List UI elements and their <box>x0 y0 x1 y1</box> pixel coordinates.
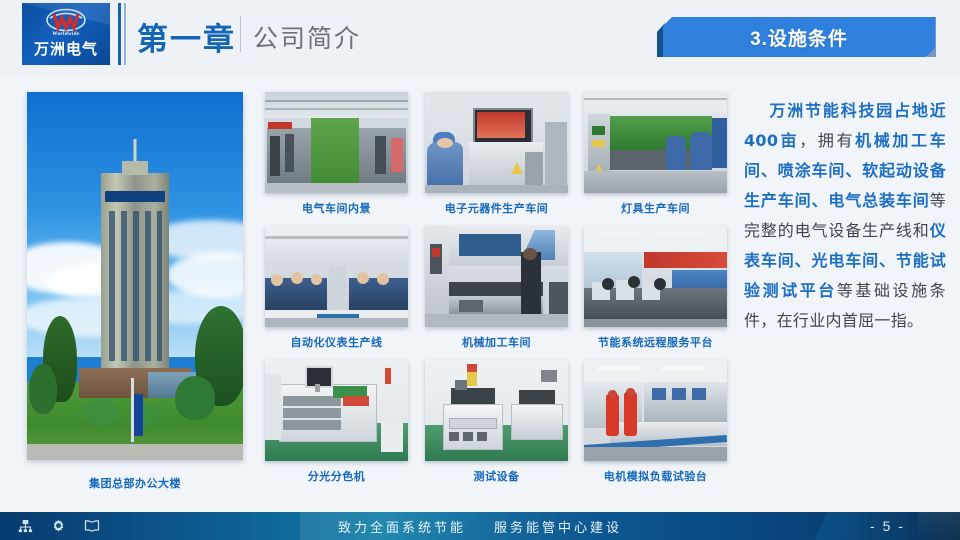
section-banner: 3.设施条件 <box>663 17 935 57</box>
facility-photo-grid: 电气车间内景 电子元器件生产车间 <box>265 92 727 487</box>
grid-cell: 电气车间内景 <box>265 92 408 216</box>
photo-caption: 分光分色机 <box>265 468 408 484</box>
footer-slogan: 致力全面系统节能 服务能管中心建设 <box>0 512 960 540</box>
photo-remote-service-platform <box>584 226 727 327</box>
photo-caption: 电气车间内景 <box>265 200 408 216</box>
photo-caption: 节能系统远程服务平台 <box>584 334 727 350</box>
grid-cell: 机械加工车间 <box>425 226 568 350</box>
office-tower <box>101 173 169 388</box>
photo-machining-workshop <box>425 226 568 327</box>
header-divider-thick <box>118 3 121 65</box>
photo-electrical-workshop <box>265 92 408 193</box>
text-segment: 万洲节能科技园 <box>768 101 894 120</box>
logo-chinese-text: 万洲电气 <box>22 40 110 60</box>
shrub <box>29 364 57 414</box>
logo-english-text: Worldwide <box>22 32 110 37</box>
grid-cell: 自动化仪表生产线 <box>265 226 408 350</box>
photo-electronic-component-workshop <box>425 92 568 193</box>
w-shield-icon <box>22 8 110 32</box>
text-segment: ，拥有 <box>799 131 855 150</box>
slide-footer: 致力全面系统节能 服务能管中心建设 - 5 - <box>0 512 960 540</box>
slide-header: Worldwide 万洲电气 第一章 公司简介 3.设施条件 <box>0 0 960 75</box>
description-text: 万洲节能科技园占地近400亩，拥有机械加工车间、喷涂车间、软起动设备生产车间、电… <box>744 96 946 486</box>
photo-automated-instrument-line <box>265 226 408 327</box>
photo-caption: 电子元器件生产车间 <box>425 200 568 216</box>
headquarters-photo <box>27 92 243 460</box>
chapter-separator <box>240 16 241 52</box>
tower-signage <box>105 191 165 202</box>
grid-cell: 分光分色机 <box>265 360 408 484</box>
photo-test-equipment <box>425 360 568 461</box>
footer-slogan-right: 服务能管中心建设 <box>494 517 622 536</box>
photo-caption: 自动化仪表生产线 <box>265 334 408 350</box>
shrub <box>175 376 215 420</box>
photo-motor-load-bench <box>584 360 727 461</box>
grid-cell: 电机模拟负载试验台 <box>584 360 727 484</box>
photo-spectro-colorimeter <box>265 360 408 461</box>
photo-caption: 机械加工车间 <box>425 334 568 350</box>
grid-cell: 电子元器件生产车间 <box>425 92 568 216</box>
photo-caption: 测试设备 <box>425 468 568 484</box>
tower-crown <box>122 161 148 175</box>
page-number: - 5 - <box>815 512 960 540</box>
photo-caption: 灯具生产车间 <box>584 200 727 216</box>
driveway <box>27 444 243 460</box>
blue-banner-flag <box>134 394 143 436</box>
photo-caption: 电机模拟负载试验台 <box>584 468 727 484</box>
grid-cell: 节能系统远程服务平台 <box>584 226 727 350</box>
chapter-subtitle: 公司简介 <box>253 19 361 55</box>
shrub <box>83 400 119 426</box>
grid-cell: 灯具生产车间 <box>584 92 727 216</box>
company-logo: Worldwide 万洲电气 <box>22 3 110 65</box>
footer-slogan-left: 致力全面系统节能 <box>338 517 466 536</box>
header-divider-thin <box>124 3 126 65</box>
main-photo-caption: 集团总部办公大楼 <box>27 475 243 491</box>
grid-cell: 测试设备 <box>425 360 568 484</box>
photo-lamp-production-workshop <box>584 92 727 193</box>
chapter-title: 第一章 <box>137 14 236 59</box>
